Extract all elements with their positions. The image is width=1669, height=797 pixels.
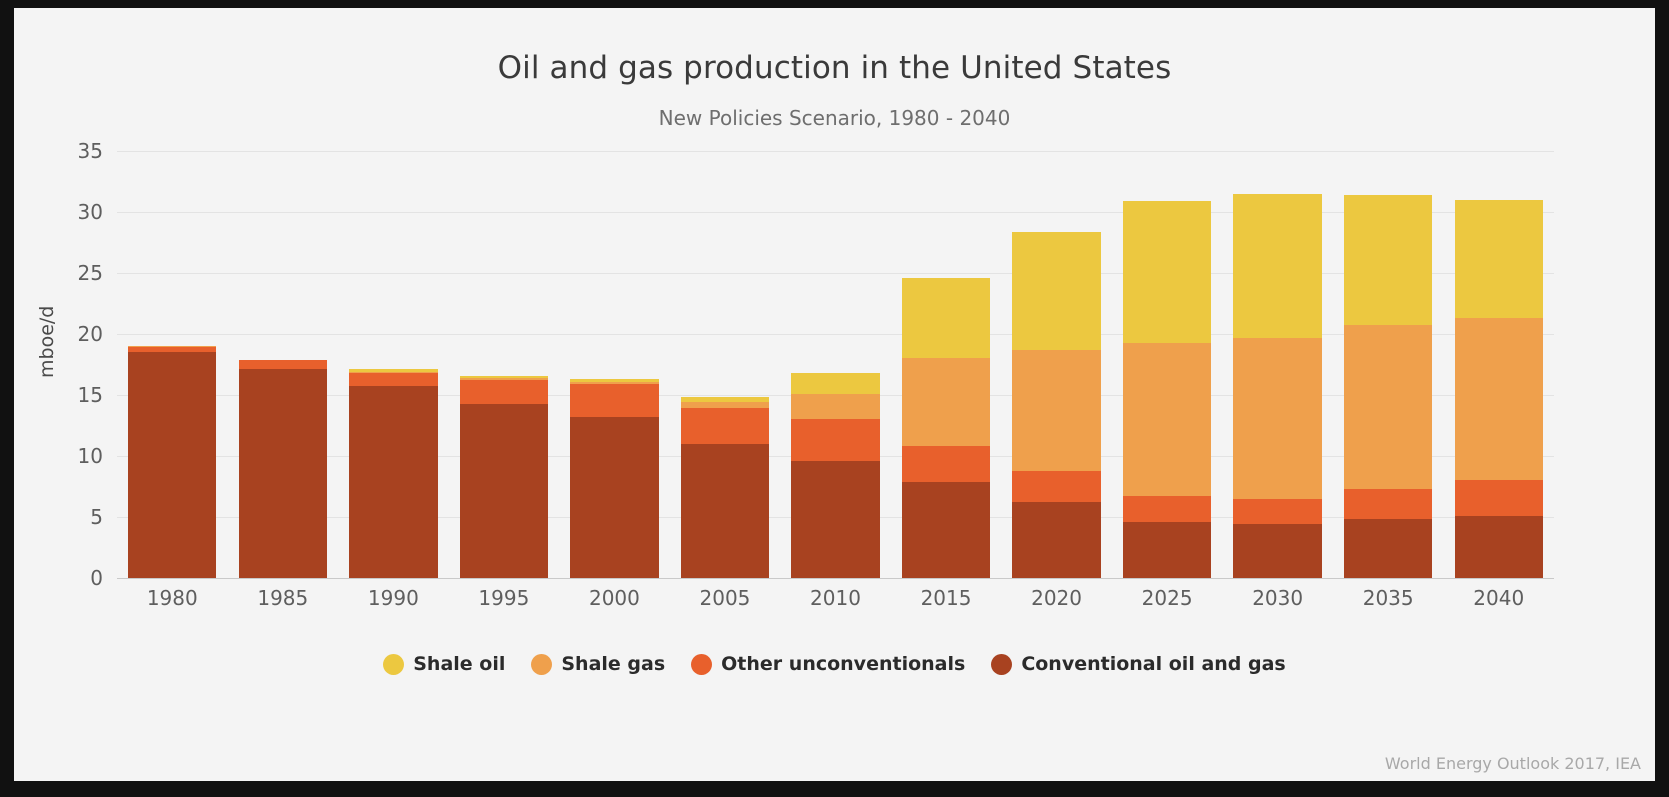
chart-figure: Oil and gas production in the United Sta… — [14, 8, 1655, 781]
bar-segment — [681, 408, 769, 443]
legend-label: Shale oil — [413, 653, 505, 675]
chart-title: Oil and gas production in the United Sta… — [14, 50, 1655, 86]
legend-swatch-icon — [383, 654, 404, 675]
bar-segment — [128, 352, 216, 578]
bar-segment — [902, 358, 990, 446]
bar-segment — [791, 373, 879, 394]
bar-segment — [1344, 325, 1432, 488]
bar-2025[interactable] — [1123, 201, 1211, 578]
bar-segment — [349, 386, 437, 578]
y-axis-title: mboe/d — [36, 306, 58, 378]
bar-segment — [239, 360, 327, 369]
bar-segment — [1455, 480, 1543, 515]
bar-segment — [1012, 471, 1100, 503]
x-axis-tick-label: 1990 — [368, 586, 419, 610]
gridline — [117, 334, 1554, 335]
legend-label: Conventional oil and gas — [1021, 653, 1285, 675]
bar-segment — [1455, 200, 1543, 318]
bar-segment — [1233, 338, 1321, 499]
y-axis-tick-label: 15 — [78, 383, 103, 407]
bar-segment — [1012, 350, 1100, 471]
legend-item[interactable]: Other unconventionals — [691, 653, 965, 675]
x-axis-tick-label: 2000 — [589, 586, 640, 610]
y-axis-tick-label: 0 — [90, 566, 103, 590]
bar-segment — [1344, 489, 1432, 520]
y-axis-tick-label: 35 — [78, 139, 103, 163]
bar-segment — [1123, 201, 1211, 343]
x-axis-tick-label: 2040 — [1473, 586, 1524, 610]
bar-segment — [1012, 502, 1100, 578]
bar-segment — [1455, 516, 1543, 578]
bar-2000[interactable] — [570, 379, 658, 578]
legend-label: Shale gas — [561, 653, 665, 675]
x-axis-tick-label: 2020 — [1031, 586, 1082, 610]
bar-segment — [1123, 496, 1211, 522]
legend-item[interactable]: Conventional oil and gas — [991, 653, 1285, 675]
bar-1985[interactable] — [239, 360, 327, 578]
y-axis-tick-label: 20 — [78, 322, 103, 346]
x-axis-tick-label: 1980 — [147, 586, 198, 610]
chart-legend: Shale oilShale gasOther unconventionalsC… — [14, 653, 1655, 675]
bar-segment — [791, 419, 879, 460]
bar-segment — [349, 373, 437, 386]
bar-segment — [570, 417, 658, 578]
y-axis-tick-label: 30 — [78, 200, 103, 224]
x-axis-tick-label: 1985 — [257, 586, 308, 610]
bar-segment — [902, 446, 990, 481]
x-axis-tick-label: 2010 — [810, 586, 861, 610]
gridline — [117, 273, 1554, 274]
y-axis-tick-label: 5 — [90, 505, 103, 529]
bar-segment — [1455, 318, 1543, 480]
bar-segment — [1123, 343, 1211, 497]
bar-segment — [791, 461, 879, 578]
bar-segment — [681, 444, 769, 578]
legend-label: Other unconventionals — [721, 653, 965, 675]
legend-item[interactable]: Shale gas — [531, 653, 665, 675]
x-axis-tick-label: 2015 — [921, 586, 972, 610]
bar-segment — [1344, 519, 1432, 578]
bar-segment — [1012, 232, 1100, 350]
x-axis-tick-label: 2035 — [1363, 586, 1414, 610]
x-axis-line — [117, 578, 1554, 579]
bar-1995[interactable] — [460, 376, 548, 579]
gridline — [117, 151, 1554, 152]
bar-segment — [791, 394, 879, 420]
x-axis-tick-label: 2025 — [1142, 586, 1193, 610]
bar-1980[interactable] — [128, 346, 216, 578]
bar-2015[interactable] — [902, 278, 990, 578]
bar-segment — [1233, 524, 1321, 578]
bar-2010[interactable] — [791, 373, 879, 578]
legend-swatch-icon — [691, 654, 712, 675]
x-axis-tick-label: 1995 — [478, 586, 529, 610]
bar-segment — [1123, 522, 1211, 578]
bar-2040[interactable] — [1455, 200, 1543, 578]
bar-1990[interactable] — [349, 369, 437, 578]
bar-segment — [460, 404, 548, 578]
bar-segment — [902, 482, 990, 578]
bar-2005[interactable] — [681, 397, 769, 578]
chart-subtitle: New Policies Scenario, 1980 - 2040 — [14, 106, 1655, 130]
bar-2035[interactable] — [1344, 195, 1432, 578]
y-axis-tick-label: 25 — [78, 261, 103, 285]
y-axis-tick-label: 10 — [78, 444, 103, 468]
bar-segment — [570, 384, 658, 417]
bar-segment — [239, 369, 327, 578]
legend-swatch-icon — [991, 654, 1012, 675]
x-axis-tick-label: 2005 — [700, 586, 751, 610]
legend-item[interactable]: Shale oil — [383, 653, 505, 675]
x-axis-tick-label: 2030 — [1252, 586, 1303, 610]
bar-segment — [1233, 194, 1321, 338]
gridline — [117, 212, 1554, 213]
plot-area: 05101520253035 — [117, 151, 1554, 578]
bar-segment — [1233, 499, 1321, 525]
legend-swatch-icon — [531, 654, 552, 675]
source-credit: World Energy Outlook 2017, IEA — [1385, 754, 1641, 773]
bar-segment — [1344, 195, 1432, 326]
bar-segment — [902, 278, 990, 359]
bar-segment — [460, 380, 548, 403]
bar-2030[interactable] — [1233, 194, 1321, 578]
bar-2020[interactable] — [1012, 232, 1100, 578]
